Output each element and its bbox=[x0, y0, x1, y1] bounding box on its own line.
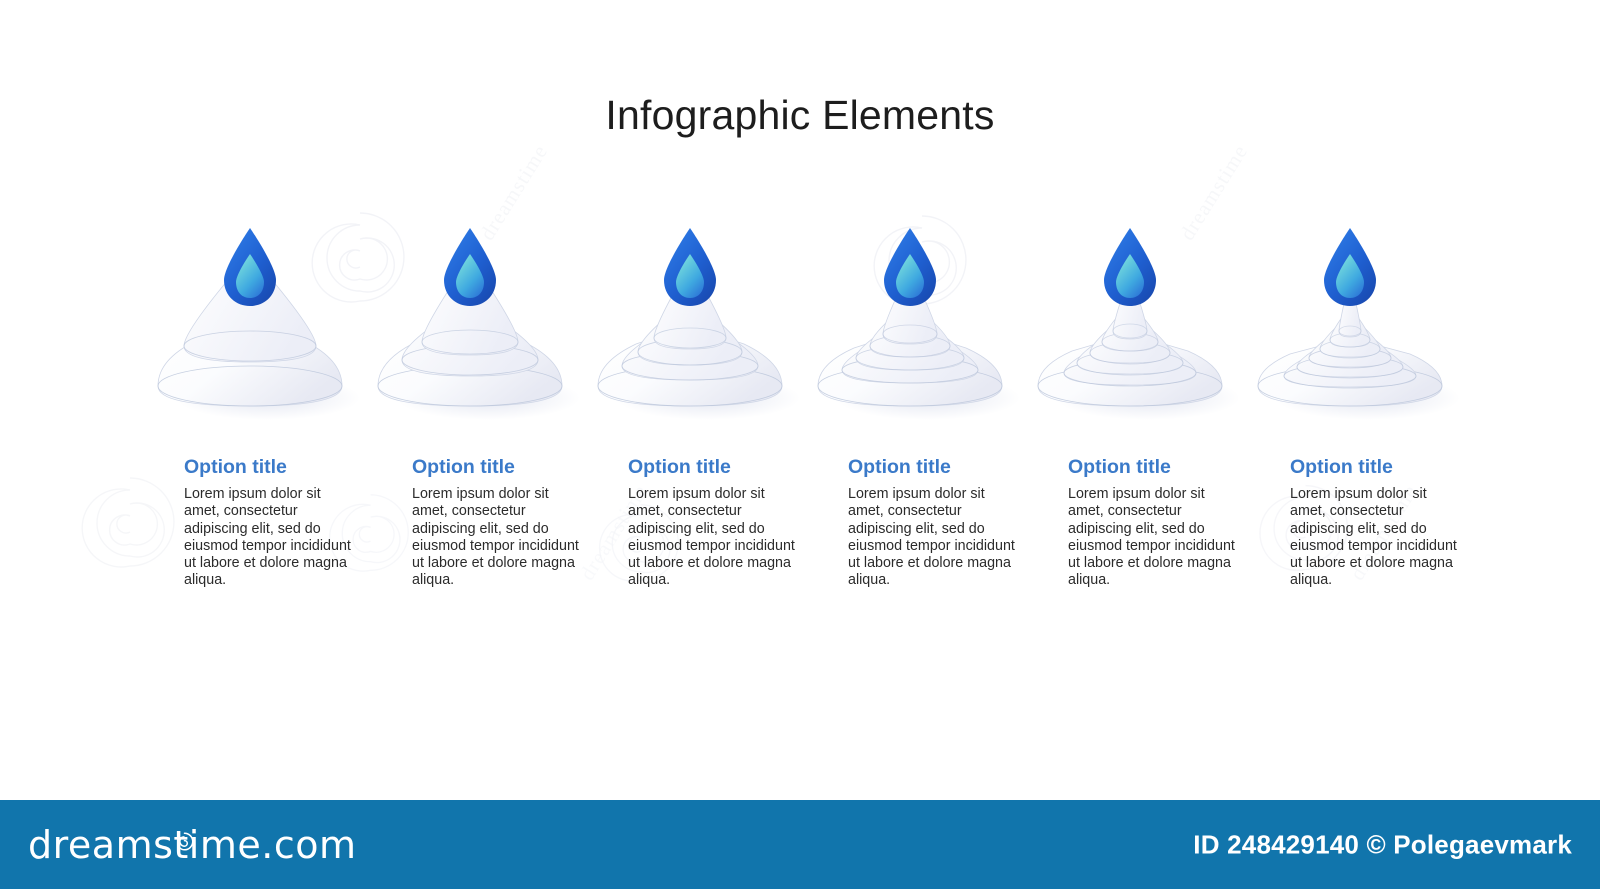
option-title-4: Option title bbox=[848, 455, 1020, 479]
infographic-canvas: Infographic Elements bbox=[0, 0, 1600, 800]
cone-graphic-6[interactable] bbox=[1240, 210, 1470, 425]
option-title-1: Option title bbox=[184, 455, 356, 479]
option-column-6[interactable]: Option title Lorem ipsum dolor sit amet,… bbox=[1240, 0, 1470, 800]
water-drop-icon bbox=[1104, 228, 1156, 306]
cone-svg-2-segments bbox=[140, 210, 370, 425]
cone-svg-5-segments bbox=[800, 210, 1030, 425]
cone-graphic-5[interactable] bbox=[1020, 210, 1250, 425]
cone-svg-6-segments bbox=[1020, 210, 1250, 425]
cone-graphic-3[interactable] bbox=[580, 210, 810, 425]
image-credit: ID 248429140 © Polegaevmark bbox=[1193, 829, 1572, 860]
option-body-2: Lorem ipsum dolor sit amet, consectetur … bbox=[412, 486, 584, 590]
water-drop-icon bbox=[444, 228, 496, 306]
option-title-5: Option title bbox=[1068, 455, 1240, 479]
option-body-1: Lorem ipsum dolor sit amet, consectetur … bbox=[184, 486, 356, 590]
option-body-3: Lorem ipsum dolor sit amet, consectetur … bbox=[628, 486, 800, 590]
dreamstime-logo[interactable]: dreamstime.com bbox=[28, 825, 356, 865]
cone-svg-7-segments bbox=[1240, 210, 1470, 425]
option-column-5[interactable]: Option title Lorem ipsum dolor sit amet,… bbox=[1020, 0, 1250, 800]
option-body-4: Lorem ipsum dolor sit amet, consectetur … bbox=[848, 486, 1020, 590]
option-text-4: Option title Lorem ipsum dolor sit amet,… bbox=[848, 455, 1020, 590]
option-title-6: Option title bbox=[1290, 455, 1462, 479]
option-column-3[interactable]: Option title Lorem ipsum dolor sit amet,… bbox=[580, 0, 810, 800]
options-row: Option title Lorem ipsum dolor sit amet,… bbox=[0, 0, 1600, 800]
water-drop-icon bbox=[1324, 228, 1376, 306]
stock-footer-bar: dreamstime.com ID 248429140 © Polegaevma… bbox=[0, 800, 1600, 889]
water-drop-icon bbox=[664, 228, 716, 306]
option-text-6: Option title Lorem ipsum dolor sit amet,… bbox=[1290, 455, 1462, 590]
option-title-3: Option title bbox=[628, 455, 800, 479]
option-text-2: Option title Lorem ipsum dolor sit amet,… bbox=[412, 455, 584, 590]
option-column-1[interactable]: Option title Lorem ipsum dolor sit amet,… bbox=[140, 0, 370, 800]
cone-graphic-4[interactable] bbox=[800, 210, 1030, 425]
option-column-4[interactable]: Option title Lorem ipsum dolor sit amet,… bbox=[800, 0, 1030, 800]
option-text-3: Option title Lorem ipsum dolor sit amet,… bbox=[628, 455, 800, 590]
option-body-5: Lorem ipsum dolor sit amet, consectetur … bbox=[1068, 486, 1240, 590]
cone-svg-4-segments bbox=[580, 210, 810, 425]
spiral-icon bbox=[174, 831, 195, 857]
option-column-2[interactable]: Option title Lorem ipsum dolor sit amet,… bbox=[360, 0, 590, 800]
water-drop-icon bbox=[884, 228, 936, 306]
option-text-1: Option title Lorem ipsum dolor sit amet,… bbox=[184, 455, 356, 590]
cone-svg-3-segments bbox=[360, 210, 590, 425]
option-text-5: Option title Lorem ipsum dolor sit amet,… bbox=[1068, 455, 1240, 590]
cone-graphic-2[interactable] bbox=[360, 210, 590, 425]
water-drop-icon bbox=[224, 228, 276, 306]
option-body-6: Lorem ipsum dolor sit amet, consectetur … bbox=[1290, 486, 1462, 590]
cone-graphic-1[interactable] bbox=[140, 210, 370, 425]
option-title-2: Option title bbox=[412, 455, 584, 479]
